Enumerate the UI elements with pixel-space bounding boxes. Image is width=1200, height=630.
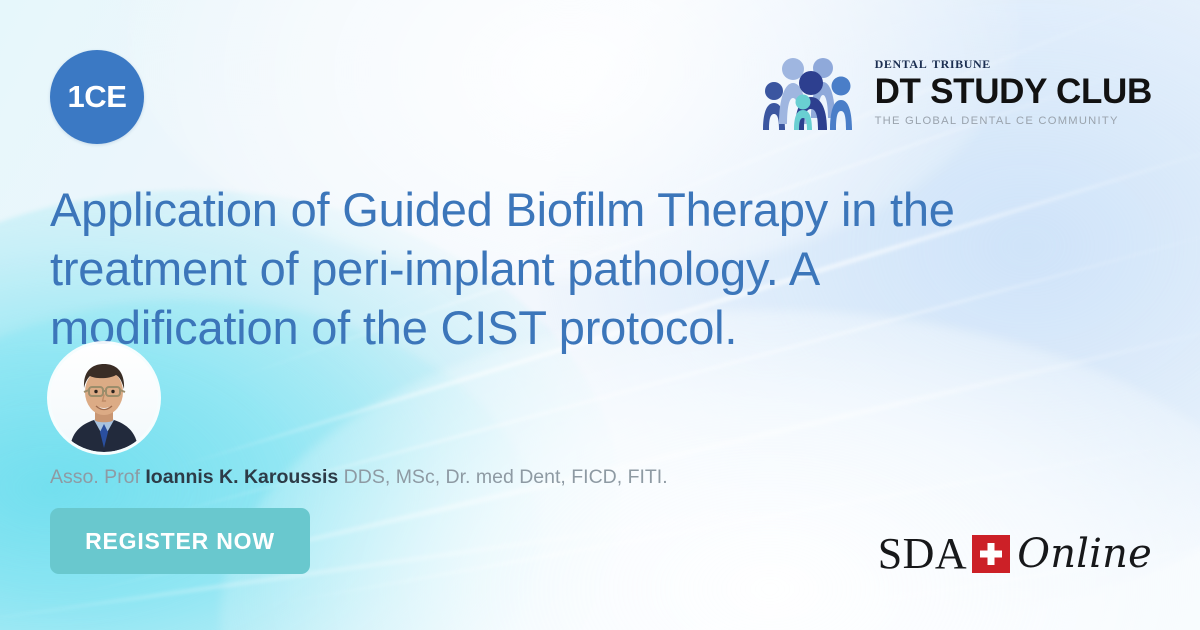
dt-study-club-logo[interactable]: Dental Tribune DT STUDY CLUB THE GLOBAL … (757, 52, 1152, 130)
title-line-3: modification of the CIST protocol. (50, 301, 737, 354)
presenter-name: Ioannis K. Karoussis (145, 466, 338, 488)
avatar (50, 344, 158, 452)
register-now-label: REGISTER NOW (85, 528, 275, 555)
presenter-credentials: DDS, MSc, Dr. med Dent, FICD, FITI. (338, 466, 667, 488)
sda-wordmark: SDA (878, 532, 968, 576)
dt-publisher-name: Dental Tribune (875, 55, 1152, 72)
register-now-button[interactable]: REGISTER NOW (50, 508, 310, 574)
sda-online-wordmark: Online (1017, 534, 1152, 574)
presenter-prefix: Asso. Prof (50, 466, 145, 488)
dt-club-name-prefix: DT (875, 72, 921, 111)
dt-club-name-suffix: STUDY CLUB (930, 72, 1152, 111)
dt-club-name: DT STUDY CLUB (875, 74, 1152, 110)
presenter-portrait-image (50, 344, 158, 452)
webinar-title: Application of Guided Biofilm Therapy in… (50, 181, 1110, 357)
webinar-promo-banner: 1CE Dental Tribune DT STUDY (0, 0, 1200, 630)
ce-credit-label: 1CE (67, 79, 126, 115)
swiss-cross-icon (972, 535, 1010, 573)
sda-online-logo[interactable]: SDA Online (878, 528, 1152, 580)
presenter-byline: Asso. Prof Ioannis K. Karoussis DDS, MSc… (50, 466, 668, 489)
title-line-2: treatment of peri-implant pathology. A (50, 242, 820, 295)
ce-credit-badge: 1CE (50, 50, 144, 144)
people-group-icon (757, 52, 861, 130)
title-line-1: Application of Guided Biofilm Therapy in… (50, 183, 955, 236)
dt-club-tagline: THE GLOBAL DENTAL CE COMMUNITY (875, 116, 1152, 127)
dt-logo-wordmark: Dental Tribune DT STUDY CLUB THE GLOBAL … (875, 55, 1152, 127)
